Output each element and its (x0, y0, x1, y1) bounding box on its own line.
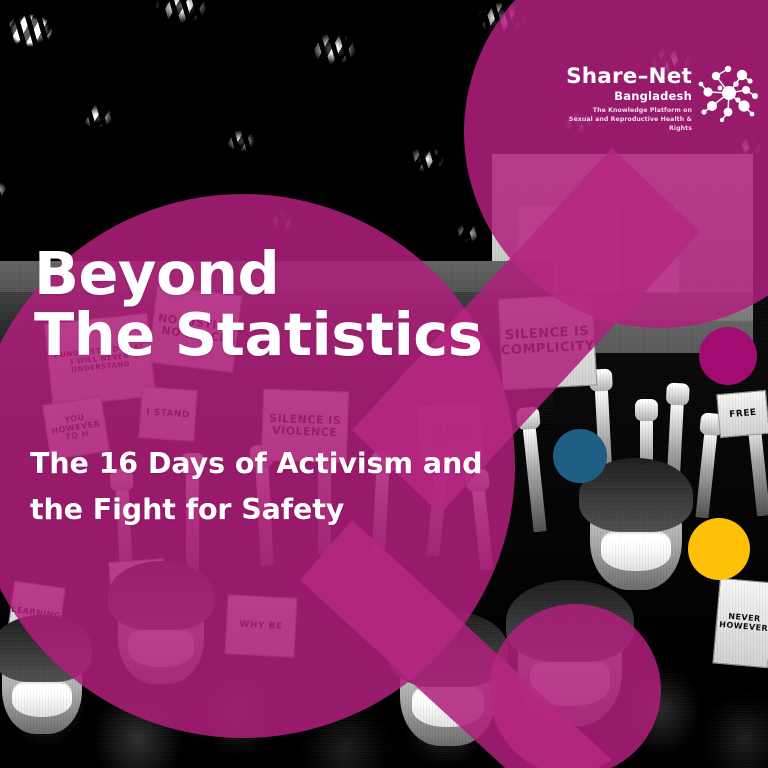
hair (388, 611, 507, 687)
logo-tagline-line-2: Sexual and Reproductive Health & Rights (556, 116, 692, 134)
raised-fist-arm (695, 430, 717, 519)
protest-sign: FREE (716, 390, 768, 438)
share-net-logo[interactable]: Share–Net Bangladesh The Knowledge Platf… (556, 66, 756, 134)
masked-protester-center (590, 474, 682, 590)
logo-tagline: The Knowledge Platform on Sexual and Rep… (556, 107, 692, 134)
face-mask (412, 687, 485, 727)
hair (0, 615, 92, 682)
face-mask (12, 682, 73, 717)
masked-protester-lower (518, 598, 622, 726)
logo-tagline-line-1: The Knowledge Platform on (556, 107, 692, 116)
subhead-line-1: The 16 Days of Activism and (30, 441, 482, 487)
raised-fist-arm (522, 424, 546, 533)
protest-sign: SILENCE IS COMPLICITY (498, 294, 598, 391)
page-title: Beyond The Statistics (34, 243, 482, 366)
magenta-dot (699, 327, 757, 385)
poster-canvas: SILENCE IS COMPLICITYNO JUSTICE NO PEACE… (0, 0, 768, 768)
blue-dot (553, 429, 607, 483)
page-subtitle: The 16 Days of Activism and the Fight fo… (30, 441, 482, 533)
logo-text-block: Share–Net Bangladesh The Knowledge Platf… (556, 66, 692, 134)
face-mask (128, 630, 193, 667)
protest-sign: WHY BE (224, 594, 297, 658)
face-mask (601, 532, 671, 571)
hair (108, 561, 215, 630)
logo-country: Bangladesh (556, 91, 692, 103)
masked-protester-mid (400, 628, 496, 746)
hair (506, 580, 635, 662)
subhead-line-2: the Fight for Safety (30, 487, 482, 533)
yellow-dot (688, 518, 750, 580)
headline-line-1: Beyond (34, 239, 279, 308)
masked-protester-edge (2, 630, 82, 734)
molecule-network-icon (698, 62, 760, 124)
protest-sign: I STAND (138, 386, 197, 442)
face-mask (530, 662, 609, 706)
protest-sign: NEVER HOWEVER (712, 578, 768, 669)
headline-line-2: The Statistics (34, 304, 482, 365)
logo-name: Share–Net (556, 66, 692, 88)
masked-protester-left (118, 576, 204, 684)
